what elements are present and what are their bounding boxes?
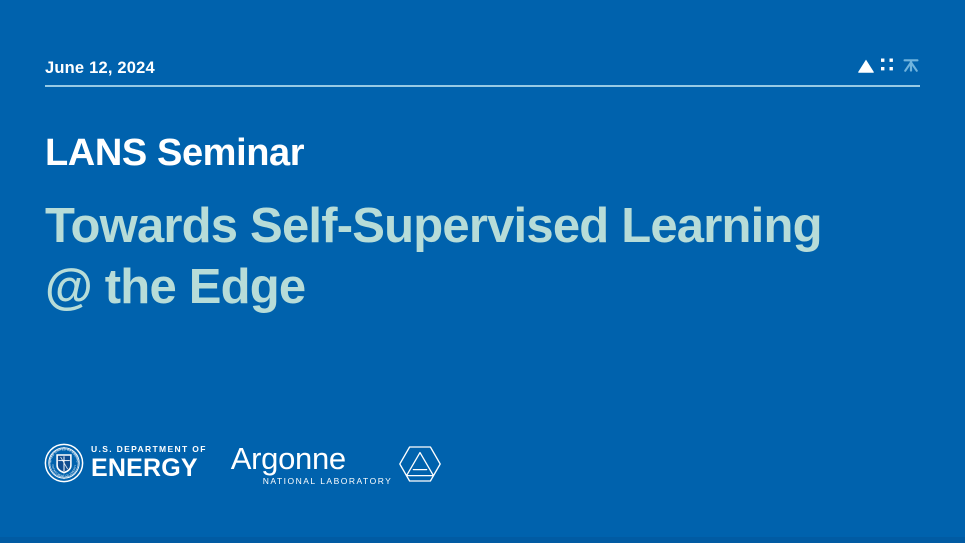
doe-seal-icon: UNITED STATES OF AMERICA DEPARTMENT OF E… xyxy=(44,443,84,483)
seminar-series-title: LANS Seminar xyxy=(45,128,304,178)
argonne-hexagon-mark-icon xyxy=(398,444,442,484)
footer-band xyxy=(0,537,965,543)
slide-header: June 12, 2024 xyxy=(45,58,920,94)
presentation-title-line-1: Towards Self-Supervised Learning xyxy=(45,196,925,257)
argonne-logo: Argonne NATIONAL LABORATORY xyxy=(231,442,443,486)
argonne-wordmark: Argonne NATIONAL LABORATORY xyxy=(231,442,393,486)
header-divider xyxy=(45,85,920,87)
tripod-mark-icon xyxy=(902,57,920,79)
doe-energy-text: ENERGY xyxy=(91,456,207,481)
triangle-mark-icon xyxy=(857,58,875,79)
doe-logo: UNITED STATES OF AMERICA DEPARTMENT OF E… xyxy=(44,443,207,483)
header-decorative-marks xyxy=(857,56,920,80)
doe-wordmark: U.S. DEPARTMENT OF ENERGY xyxy=(91,445,207,481)
argonne-name-text: Argonne xyxy=(231,442,393,475)
slide-date: June 12, 2024 xyxy=(45,58,155,78)
logo-row: UNITED STATES OF AMERICA DEPARTMENT OF E… xyxy=(44,440,442,486)
presentation-title-line-2: @ the Edge xyxy=(45,257,925,318)
title-slide: June 12, 2024 xyxy=(0,0,965,543)
dots-mark-icon xyxy=(880,57,897,79)
doe-department-line: U.S. DEPARTMENT OF xyxy=(91,445,207,454)
argonne-subtitle-text: NATIONAL LABORATORY xyxy=(263,476,393,486)
presentation-title: Towards Self-Supervised Learning @ the E… xyxy=(45,196,925,318)
